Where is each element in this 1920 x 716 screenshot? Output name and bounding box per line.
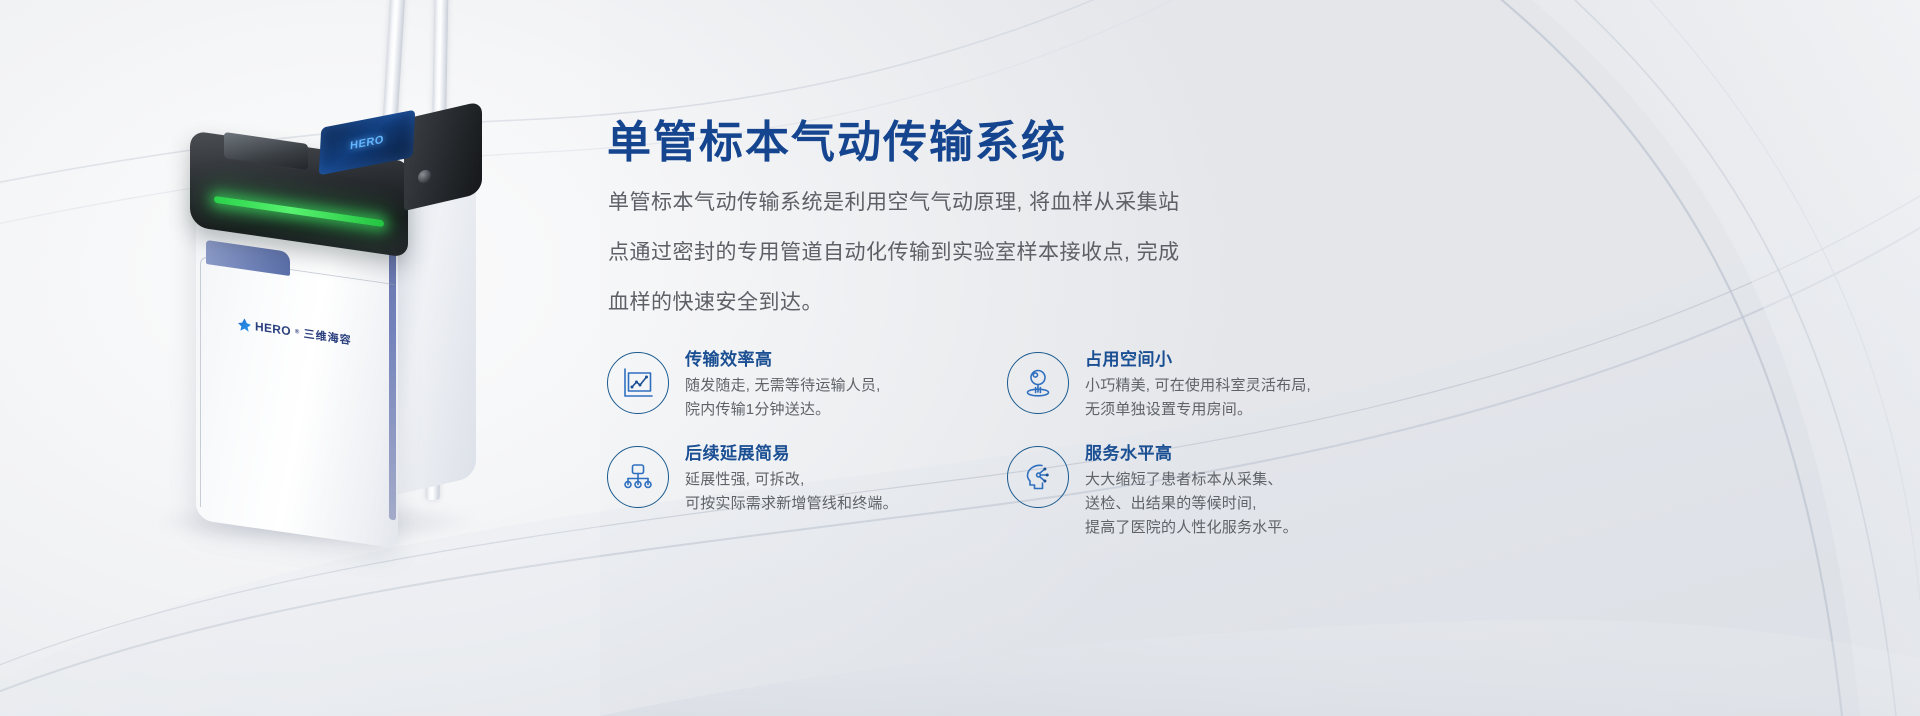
pneumatic-station-device: HERO ® 三维海容 HERO [168, 112, 498, 532]
feature-body-line: 可按实际需求新增管线和终端。 [685, 492, 898, 516]
feature-heading: 传输效率高 [685, 348, 881, 372]
feature-list: 传输效率高 随发随走, 无需等待运输人员, 院内传输1分钟送达。 [607, 348, 1287, 540]
network-tree-icon [607, 446, 669, 508]
feature-text: 占用空间小 小巧精美, 可在使用科室灵活布局, 无须单独设置专用房间。 [1085, 348, 1311, 422]
feature-body-line: 随发随走, 无需等待运输人员, [685, 374, 881, 398]
feature-text: 后续延展简易 延展性强, 可拆改, 可按实际需求新增管线和终端。 [685, 442, 898, 516]
description-line-3: 血样的快速安全到达。 [608, 278, 1268, 328]
feature-body: 小巧精美, 可在使用科室灵活布局, 无须单独设置专用房间。 [1085, 374, 1311, 422]
screen-logo-text: HERO [350, 133, 384, 152]
feature-item-transfer-efficiency[interactable]: 传输效率高 随发随走, 无需等待运输人员, 院内传输1分钟送达。 [607, 348, 1007, 422]
feature-heading: 后续延展简易 [685, 442, 898, 466]
feature-heading: 占用空间小 [1085, 348, 1311, 372]
page-title: 单管标本气动传输系统 [607, 121, 1067, 165]
feature-body-line: 大大缩短了患者标本从采集、 [1085, 468, 1298, 492]
feature-body-line: 延展性强, 可拆改, [685, 468, 898, 492]
feature-item-service-level[interactable]: 服务水平高 大大缩短了患者标本从采集、 送检、出结果的等候时间, 提高了医院的人… [1007, 442, 1287, 540]
feature-item-easy-expansion[interactable]: 后续延展简易 延展性强, 可拆改, 可按实际需求新增管线和终端。 [607, 442, 1007, 540]
device-door-seam [200, 256, 395, 535]
feature-heading: 服务水平高 [1085, 442, 1298, 466]
feature-body: 随发随走, 无需等待运输人员, 院内传输1分钟送达。 [685, 374, 881, 422]
hero-star-icon [238, 317, 251, 332]
feature-text: 传输效率高 随发随走, 无需等待运输人员, 院内传输1分钟送达。 [685, 348, 881, 422]
description-paragraph: 单管标本气动传输系统是利用空气气动原理, 将血样从采集站 点通过密封的专用管道自… [608, 178, 1268, 328]
product-image: HERO ® 三维海容 HERO [0, 0, 620, 716]
description-line-1: 单管标本气动传输系统是利用空气气动原理, 将血样从采集站 [608, 178, 1268, 228]
feature-body-line: 无须单独设置专用房间。 [1085, 398, 1311, 422]
product-banner: HERO ® 三维海容 HERO 单管标本气动传输系统 单管标本气动传输系统是利… [0, 0, 1920, 716]
feature-body-line: 小巧精美, 可在使用科室灵活布局, [1085, 374, 1311, 398]
brand-registered-mark: ® [295, 329, 300, 336]
device-top-cap-side [404, 101, 482, 211]
banner-content: 单管标本气动传输系统 单管标本气动传输系统是利用空气气动原理, 将血样从采集站 … [607, 0, 1907, 716]
feature-body-line: 送检、出结果的等候时间, [1085, 492, 1298, 516]
chart-growth-icon [607, 352, 669, 414]
space-pin-icon [1007, 352, 1069, 414]
feature-text: 服务水平高 大大缩短了患者标本从采集、 送检、出结果的等候时间, 提高了医院的人… [1085, 442, 1298, 540]
feature-body: 延展性强, 可拆改, 可按实际需求新增管线和终端。 [685, 468, 898, 516]
feature-item-small-footprint[interactable]: 占用空间小 小巧精美, 可在使用科室灵活布局, 无须单独设置专用房间。 [1007, 348, 1287, 422]
feature-body-line: 院内传输1分钟送达。 [685, 398, 881, 422]
feature-body-line: 提高了医院的人性化服务水平。 [1085, 516, 1298, 540]
feature-body: 大大缩短了患者标本从采集、 送检、出结果的等候时间, 提高了医院的人性化服务水平… [1085, 468, 1298, 540]
description-line-2: 点通过密封的专用管道自动化传输到实验室样本接收点, 完成 [608, 228, 1268, 278]
smart-head-icon [1007, 446, 1069, 508]
